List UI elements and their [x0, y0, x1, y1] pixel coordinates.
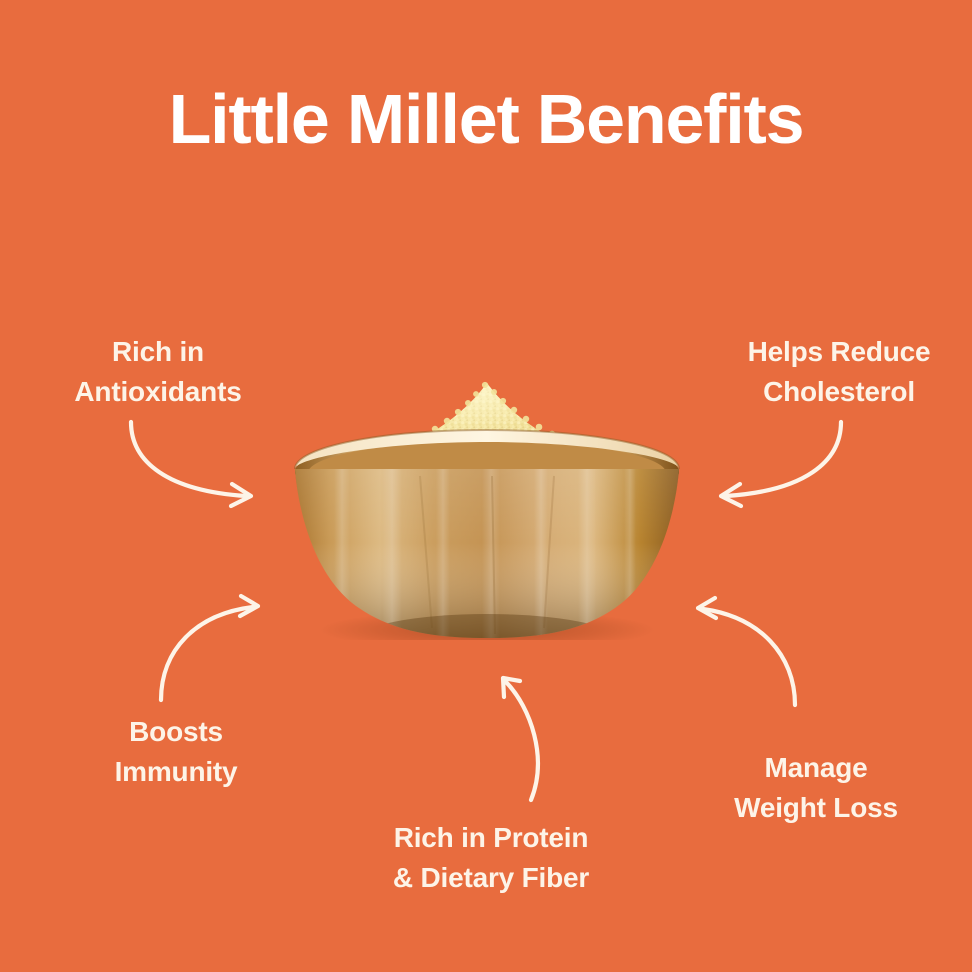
infographic-poster: Little Millet Benefits: [0, 0, 972, 972]
benefit-line-1: Boosts: [62, 712, 290, 752]
benefit-label-antioxidants: Rich in Antioxidants: [40, 332, 276, 413]
arrow-antioxidants: [131, 422, 251, 506]
arrow-protein: [503, 678, 538, 800]
benefit-line-1: Helps Reduce: [716, 332, 962, 372]
arrow-immunity: [161, 596, 258, 700]
benefit-line-2: Cholesterol: [716, 372, 962, 412]
benefit-label-weightloss: Manage Weight Loss: [700, 748, 932, 829]
benefit-label-protein: Rich in Protein & Dietary Fiber: [360, 818, 622, 899]
benefit-line-1: Manage: [700, 748, 932, 788]
benefit-line-1: Rich in Protein: [360, 818, 622, 858]
benefit-line-1: Rich in: [40, 332, 276, 372]
benefit-label-immunity: Boosts Immunity: [62, 712, 290, 793]
benefit-line-2: Immunity: [62, 752, 290, 792]
wooden-bowl-of-millet-image: [286, 372, 688, 640]
benefit-line-2: Weight Loss: [700, 788, 932, 828]
arrow-weightloss: [698, 598, 795, 705]
page-title: Little Millet Benefits: [0, 84, 972, 154]
benefit-line-2: Antioxidants: [40, 372, 276, 412]
benefit-label-cholesterol: Helps Reduce Cholesterol: [716, 332, 962, 413]
arrow-cholesterol: [721, 422, 841, 506]
benefit-line-2: & Dietary Fiber: [360, 858, 622, 898]
